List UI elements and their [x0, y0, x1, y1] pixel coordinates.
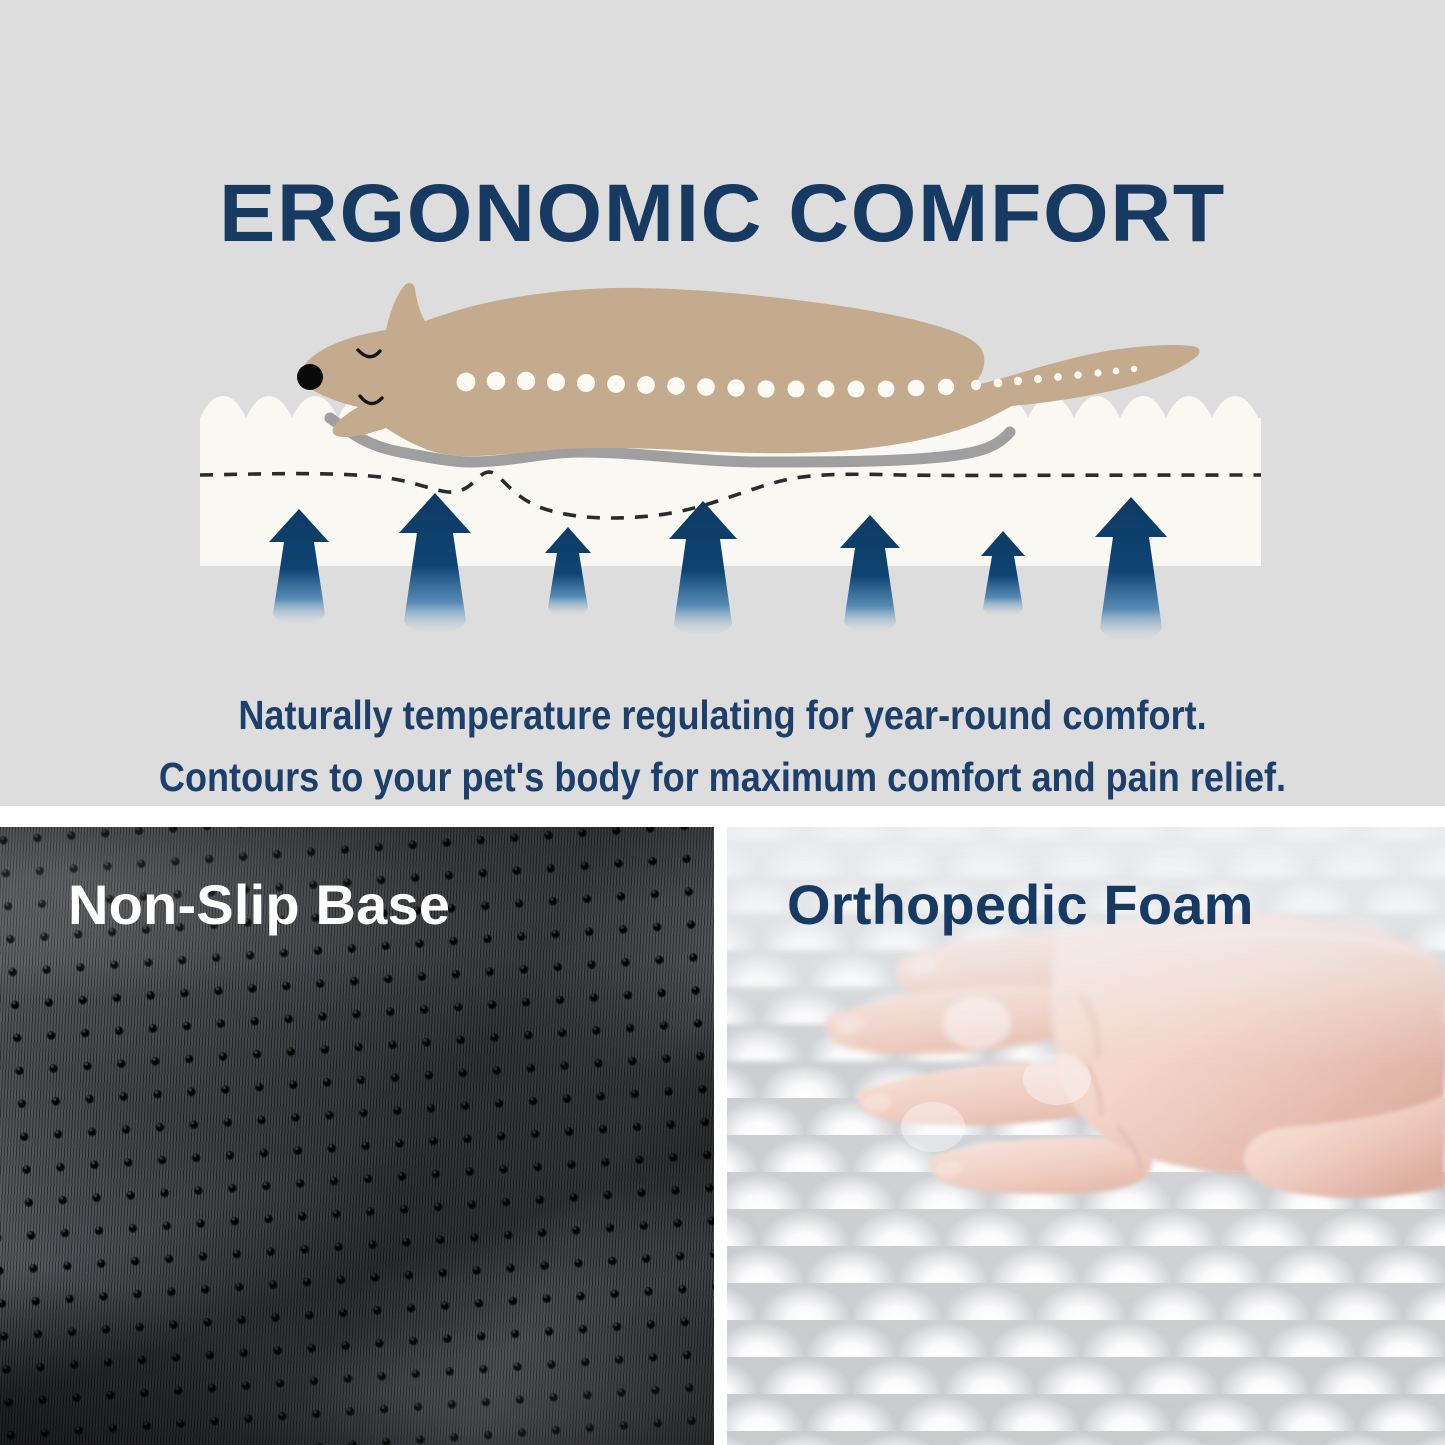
- orthopedic-foam-label: Orthopedic Foam: [787, 872, 1254, 937]
- subtitle-line-2: Contours to your pet's body for maximum …: [87, 754, 1359, 801]
- non-slip-base-label: Non-Slip Base: [68, 872, 450, 937]
- hero-section: ERGONOMIC COMFORT: [0, 0, 1445, 806]
- dog-nose: [297, 364, 323, 390]
- infographic-page: ERGONOMIC COMFORT: [0, 0, 1445, 1445]
- ergonomic-diagram: [0, 0, 1445, 806]
- subtitle-line-1: Naturally temperature regulating for yea…: [87, 692, 1359, 739]
